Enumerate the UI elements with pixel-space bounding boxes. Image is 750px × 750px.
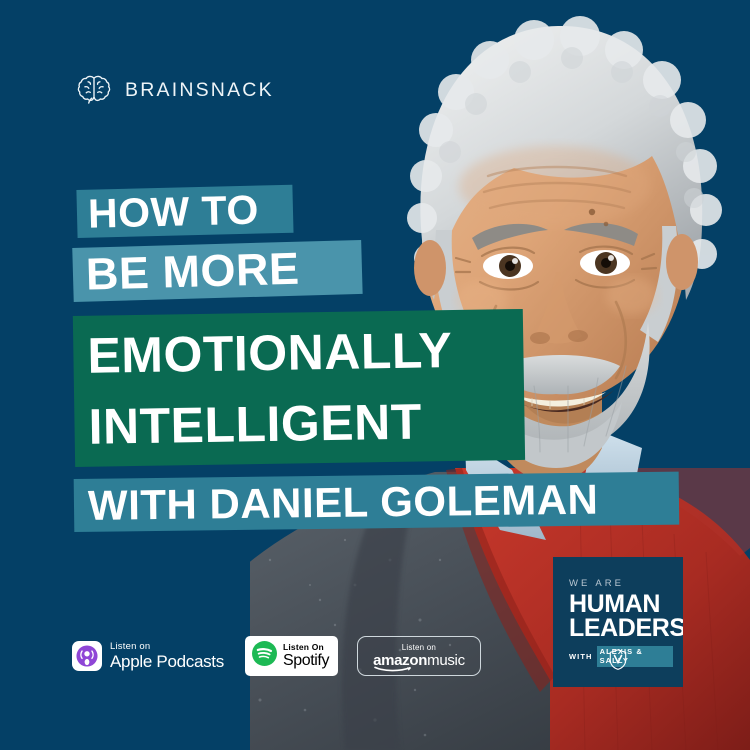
amazon-music-label: amazonmusic [373,653,465,668]
title-line-4-text: INTELLIGENT [88,386,422,462]
title-line-with-guest: WITH DANIEL GOLEMAN [74,472,680,532]
brand-logo: BRAINSNACK [74,70,274,110]
podcast-cover-art: BRAINSNACK HOW TO BE MORE EMOTIONALLY IN… [0,0,750,750]
podcast-logo-human: HUMAN [569,592,673,616]
podcast-logo-leaders: LEADERS [569,616,673,640]
amazon-listen-on-text: Listen on [402,643,436,652]
spotify-listen-on-text: Listen On [283,643,329,652]
amazon-smile-icon [374,666,422,672]
brand-name: BRAINSNACK [125,79,274,102]
spotify-text: Spotify [283,653,329,669]
title-line-3-text: EMOTIONALLY [87,315,453,392]
title-line-2-text: BE MORE [85,243,300,301]
apple-podcasts-label: Listen on Apple Podcasts [110,642,224,671]
apple-podcasts-icon [72,641,102,671]
podcast-logo-with-label: WITH [569,652,593,661]
title-line-how-to: HOW TO [76,185,293,238]
listen-badges: Listen on Apple Podcasts Listen On Spoti… [70,636,481,676]
spotify-icon [252,641,277,671]
podcast-logo-badge: WE ARE HUMAN LEADERS WITH ALEXIS & SALLY [553,557,683,687]
apple-podcasts-badge[interactable]: Listen on Apple Podcasts [70,641,226,671]
apple-podcasts-text: Apple Podcasts [110,653,224,670]
title-line-1-text: HOW TO [87,186,259,237]
title-line-emotionally-intelligent: EMOTIONALLY INTELLIGENT [73,309,525,467]
brain-icon [74,70,114,110]
title-line-be-more: BE MORE [72,240,362,302]
music-word: music [427,652,465,669]
spotify-badge[interactable]: Listen On Spotify [245,636,338,676]
apple-listen-on-text: Listen on [110,642,224,652]
podcast-logo-hosts: ALEXIS & SALLY [597,646,673,667]
amazon-music-badge[interactable]: Listen on amazonmusic [357,636,481,676]
podcast-logo-we-are: WE ARE [569,578,673,589]
spotify-label: Listen On Spotify [283,643,329,669]
title-line-5-text: WITH DANIEL GOLEMAN [88,475,599,529]
